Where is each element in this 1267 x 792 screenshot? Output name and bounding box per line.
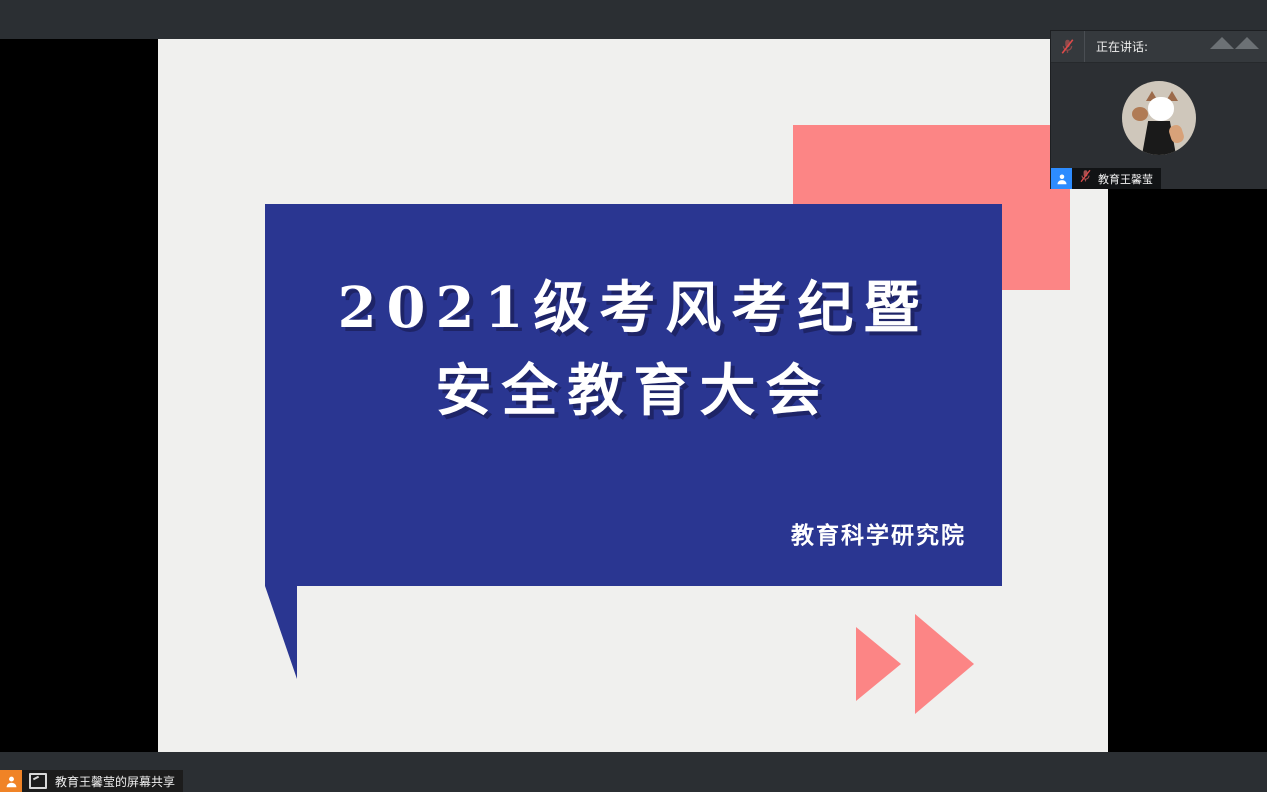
coral-triangle-small-icon [856, 627, 901, 701]
slide-organization-label: 教育科学研究院 [158, 516, 966, 550]
participant-name-label: 教育王馨莹 [1098, 171, 1153, 187]
shared-slide: 2021级考风考纪暨 安全教育大会 教育科学研究院 [158, 39, 1108, 752]
video-panel-body: 教育王馨莹 [1051, 63, 1267, 189]
avatar-cat-patch [1132, 107, 1148, 121]
chevron-up-icon-1 [1210, 37, 1234, 49]
coral-triangle-large-icon [915, 614, 974, 714]
speaker-video-panel[interactable]: 正在讲话: [1051, 31, 1267, 188]
video-panel-header: 正在讲话: [1051, 31, 1267, 63]
panel-expand-chevrons-icon[interactable] [1210, 37, 1259, 49]
avatar [1122, 81, 1196, 155]
taskbar-screen-share-item[interactable]: 教育王馨莹的屏幕共享 [0, 770, 183, 792]
person-badge-icon [1051, 168, 1072, 189]
slide-title-line-2: 安全教育大会 [265, 350, 1002, 433]
chevron-up-icon-2 [1235, 37, 1259, 49]
taskbar-screen-share-label: 教育王馨莹的屏幕共享 [55, 773, 175, 790]
speaking-status-label: 正在讲话: [1096, 38, 1148, 55]
blue-card-tail-shape [265, 586, 297, 679]
microphone-muted-icon-small [1079, 169, 1092, 188]
microphone-muted-icon[interactable] [1051, 31, 1085, 62]
bottom-chrome-bar [0, 752, 1267, 792]
person-icon [0, 770, 22, 792]
participant-nametag: 教育王馨莹 [1051, 168, 1161, 189]
avatar-cat-head [1148, 97, 1174, 121]
screen-share-icon [29, 773, 47, 789]
slide-title-line-1: 2021级考风考纪暨 [265, 267, 1002, 350]
